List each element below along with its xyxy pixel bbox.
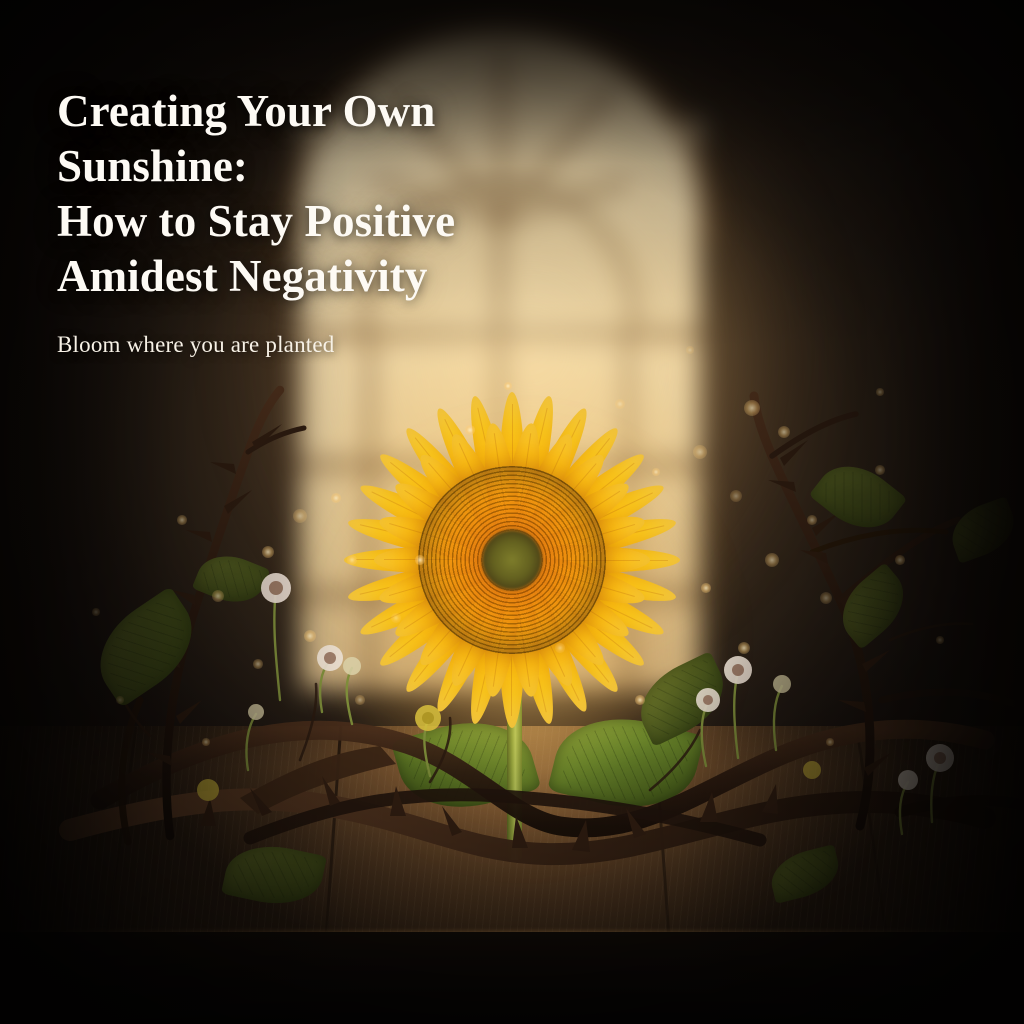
headline-line: Creating Your Own — [57, 84, 617, 139]
text-overlay: Creating Your Own Sunshine: How to Stay … — [57, 84, 617, 359]
page-subtitle: Bloom where you are planted — [57, 331, 617, 359]
headline-line: Amidest Negativity — [57, 249, 617, 304]
page-title: Creating Your Own Sunshine: How to Stay … — [57, 84, 617, 304]
table-front-edge — [0, 932, 1024, 1024]
artwork-canvas: Creating Your Own Sunshine: How to Stay … — [0, 0, 1024, 1024]
sunflower-disc — [418, 466, 606, 654]
headline-line: Sunshine: — [57, 139, 617, 194]
headline-line: How to Stay Positive — [57, 194, 617, 249]
sunflower-disc-core — [482, 530, 542, 590]
window-mullion-vertical — [366, 330, 374, 692]
